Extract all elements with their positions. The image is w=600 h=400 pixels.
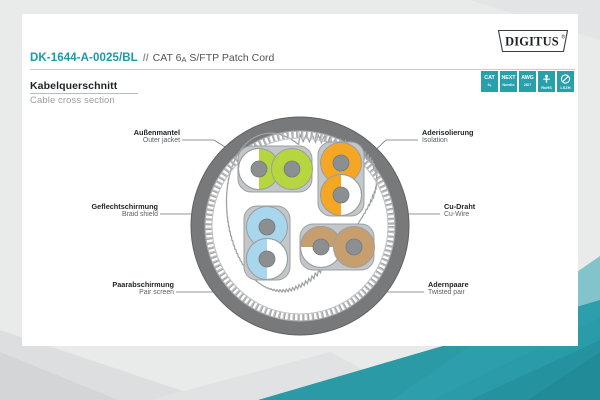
callout-cu-wire: Cu-Draht Cu-Wire (444, 202, 574, 220)
green-pair (238, 146, 313, 192)
blue-wire-solid-core (259, 219, 275, 235)
orange-wire-striped-core (333, 187, 349, 203)
callout-cu-wire-de: Cu-Draht (444, 202, 574, 211)
callout-braid-shield-de: Geflechtschirmung (40, 202, 158, 211)
orange-wire-solid-core (333, 155, 349, 171)
blue-pair (244, 206, 290, 280)
brown-wire-striped-core (313, 239, 329, 255)
orange-pair (318, 142, 364, 216)
callout-isolation: Aderisolierung Isolation (422, 128, 552, 146)
callout-twisted-pair: Adernpaare Twisted pair (428, 280, 558, 298)
callout-braid-shield: Geflechtschirmung Braid shield (40, 202, 158, 220)
callout-twisted-pair-de: Adernpaare (428, 280, 558, 289)
callout-pair-screen-en: Pair screen (56, 289, 174, 298)
callout-pair-screen-de: Paarabschirmung (56, 280, 174, 289)
callout-braid-shield-en: Braid shield (40, 211, 158, 220)
callout-outer-jacket-en: Outer jacket (62, 137, 180, 146)
green-wire-striped-core (251, 161, 267, 177)
callout-pair-screen: Paarabschirmung Pair screen (56, 280, 174, 298)
blue-wire-striped-core (259, 251, 275, 267)
callout-outer-jacket-de: Außenmantel (62, 128, 180, 137)
green-wire-solid-core (284, 161, 300, 177)
brown-wire-solid-core (346, 239, 362, 255)
callout-isolation-de: Aderisolierung (422, 128, 552, 137)
callout-twisted-pair-en: Twisted pair (428, 289, 558, 298)
callout-cu-wire-en: Cu-Wire (444, 211, 574, 220)
callout-outer-jacket: Außenmantel Outer jacket (62, 128, 180, 146)
callout-isolation-en: Isolation (422, 137, 552, 146)
cable-cross-section-diagram (0, 0, 600, 400)
brown-pair (300, 224, 375, 270)
page-root: DK-1644-A-0025/BL//CAT 6A S/FTP Patch Co… (0, 0, 600, 400)
